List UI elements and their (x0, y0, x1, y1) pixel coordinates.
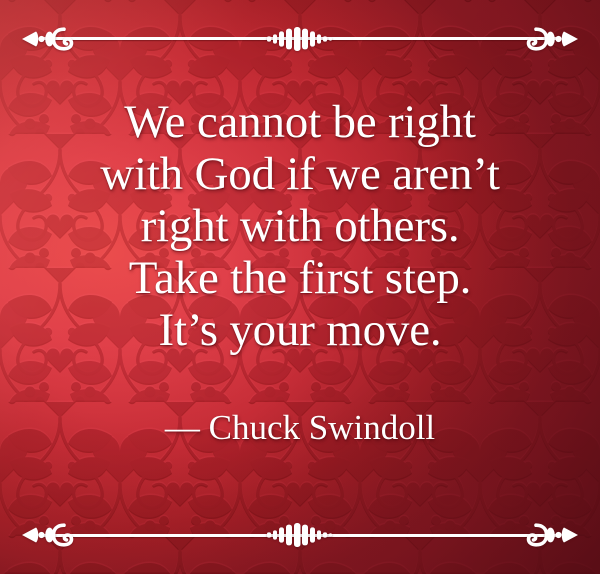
quote-line-1: We cannot be right (18, 96, 582, 148)
quote-line-5: It’s your move. (18, 304, 582, 356)
quote-line-3: right with others. (18, 200, 582, 252)
bottom-center-beaded-bars-ornament (266, 522, 334, 548)
quote-attribution: — Chuck Swindoll (18, 408, 582, 448)
top-right-arrow-flourish-ornament (522, 26, 580, 52)
quote-content: We cannot be right with God if we aren’t… (0, 96, 600, 448)
top-center-beaded-bars-ornament (266, 26, 334, 52)
top-left-arrow-flourish-ornament (20, 26, 78, 52)
bottom-right-arrow-flourish-ornament (522, 522, 580, 548)
quote-card: We cannot be right with God if we aren’t… (0, 0, 600, 574)
quote-line-2: with God if we aren’t (18, 148, 582, 200)
bottom-left-arrow-flourish-ornament (20, 522, 78, 548)
quote-line-4: Take the first step. (18, 252, 582, 304)
